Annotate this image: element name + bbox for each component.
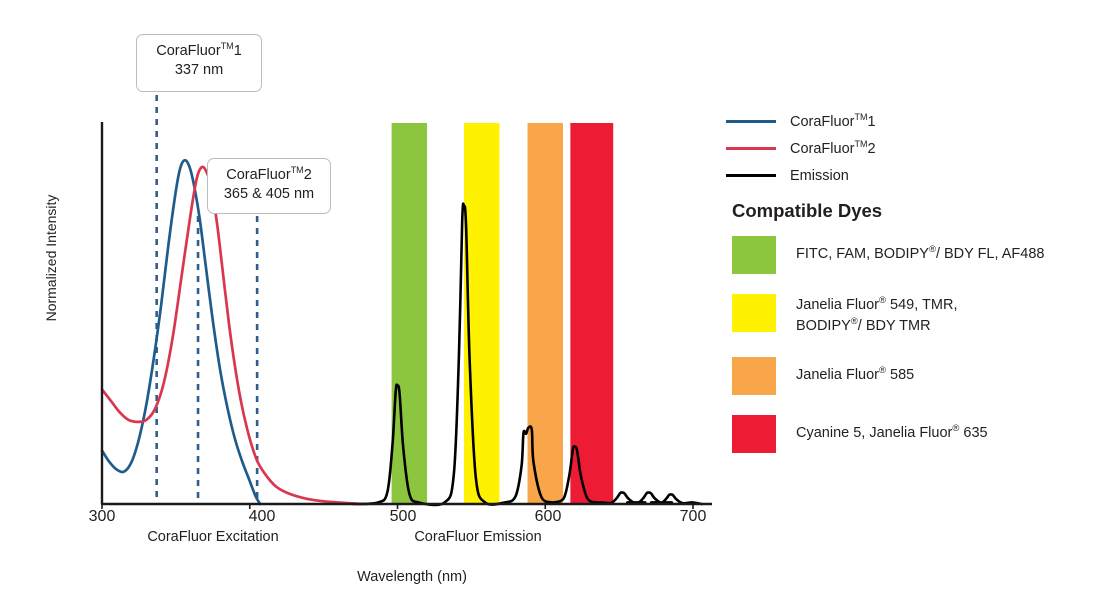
compatible-dyes-title: Compatible Dyes (732, 200, 882, 222)
dye-swatch (732, 357, 776, 395)
legend-label-emission: Emission (790, 168, 849, 184)
excitation-curve (102, 167, 361, 504)
x-tick-700: 700 (663, 508, 723, 526)
x-axis-title: Wavelength (nm) (262, 569, 562, 585)
region-label-excitation: CoraFluor Excitation (83, 529, 343, 545)
region-label-emission: CoraFluor Emission (348, 529, 608, 545)
dye-row: Janelia Fluor® 585 (732, 357, 1104, 395)
x-tick-500: 500 (373, 508, 433, 526)
callout-corafluor2: CoraFluorTM2 365 & 405 nm (207, 158, 331, 214)
x-tick-400: 400 (232, 508, 292, 526)
dye-row: Cyanine 5, Janelia Fluor® 635 (732, 415, 1104, 453)
x-tick-600: 600 (518, 508, 578, 526)
legend-swatch-corafluor2 (726, 147, 776, 150)
dye-row: Janelia Fluor® 549, TMR,BODIPY®/ BDY TMR (732, 294, 1104, 337)
fluorescence-spectra-figure: CoraFluorTM1 337 nm CoraFluorTM2 365 & 4… (0, 0, 1110, 612)
dye-label: Janelia Fluor® 585 (796, 357, 914, 386)
y-axis-title: Normalized Intensity (43, 163, 59, 353)
legend-item-corafluor2: CoraFluorTM2 (726, 135, 1096, 162)
x-tick-300: 300 (72, 508, 132, 526)
callout-corafluor1-wavelength: 337 nm (147, 61, 251, 80)
legend-item-emission: Emission (726, 162, 1096, 189)
dye-swatch (732, 236, 776, 274)
dye-label: Janelia Fluor® 549, TMR,BODIPY®/ BDY TMR (796, 294, 957, 337)
callout-corafluor2-wavelength: 365 & 405 nm (218, 185, 320, 204)
callout-corafluor1-title: CoraFluorTM1 (147, 42, 251, 61)
callout-corafluor1: CoraFluorTM1 337 nm (136, 34, 262, 92)
legend-label-corafluor1: CoraFluorTM1 (790, 114, 876, 130)
legend-swatch-emission (726, 174, 776, 177)
callout-corafluor2-title: CoraFluorTM2 (218, 166, 320, 185)
dye-label: FITC, FAM, BODIPY®/ BDY FL, AF488 (796, 236, 1044, 265)
legend-swatch-corafluor1 (726, 120, 776, 123)
dye-swatch (732, 415, 776, 453)
compatible-dyes-list: FITC, FAM, BODIPY®/ BDY FL, AF488Janelia… (732, 236, 1104, 473)
legend-item-corafluor1: CoraFluorTM1 (726, 108, 1096, 135)
emission-band (392, 123, 427, 504)
dye-row: FITC, FAM, BODIPY®/ BDY FL, AF488 (732, 236, 1104, 274)
legend-label-corafluor2: CoraFluorTM2 (790, 141, 876, 157)
dye-swatch (732, 294, 776, 332)
line-legend: CoraFluorTM1 CoraFluorTM2 Emission (726, 108, 1096, 189)
dye-label: Cyanine 5, Janelia Fluor® 635 (796, 415, 988, 444)
